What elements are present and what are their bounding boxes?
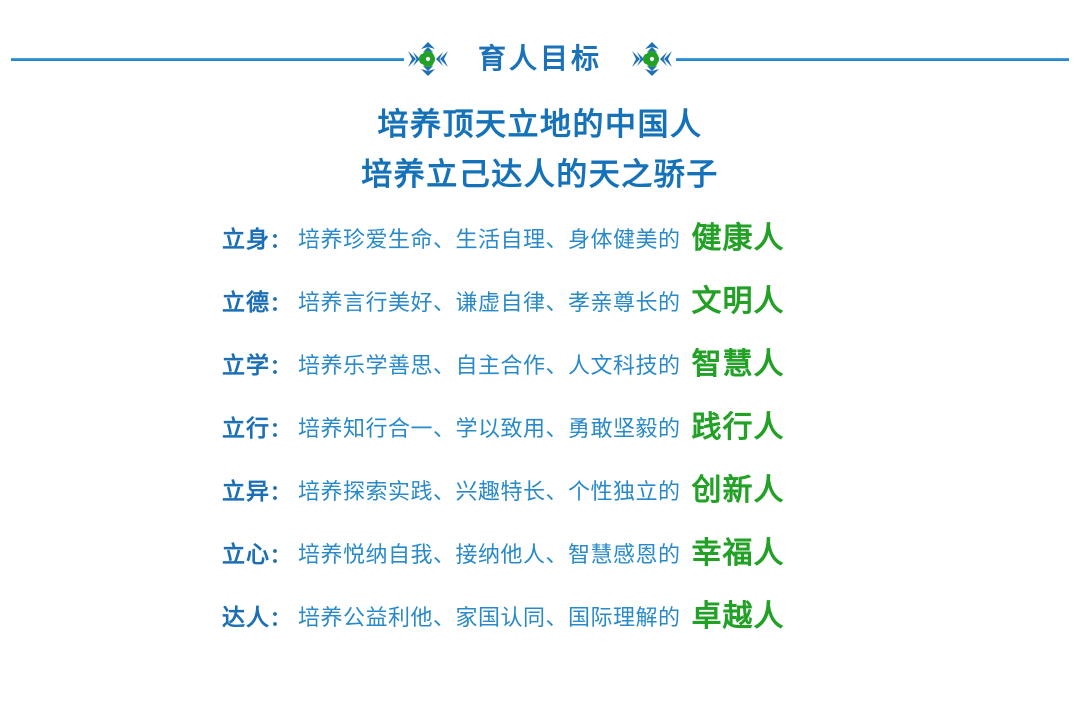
goal-term: 践行人: [681, 402, 785, 446]
goal-description: 培养乐学善思、自主合作、人文科技的: [298, 348, 681, 380]
goal-term: 创新人: [681, 465, 785, 509]
goal-colon: ：: [270, 224, 298, 253]
header-rule-right: [676, 58, 1069, 61]
goal-description: 培养言行美好、谦虚自律、孝亲尊长的: [298, 285, 681, 317]
goal-term: 健康人: [681, 213, 785, 257]
goal-colon: ：: [270, 539, 298, 568]
headline-line-1: 培养顶天立地的中国人: [0, 100, 1080, 150]
floral-ornament-icon-left: [406, 41, 450, 77]
page-title: 育人目标: [452, 45, 628, 73]
goal-term: 智慧人: [681, 339, 785, 383]
goal-label: 立心: [222, 535, 270, 569]
goal-row: 立身 ： 培养珍爱生命、生活自理、身体健美的 健康人: [0, 212, 1080, 275]
goal-row: 立学 ： 培养乐学善思、自主合作、人文科技的 智慧人: [0, 338, 1080, 401]
goal-description: 培养公益利他、家国认同、国际理解的: [298, 600, 681, 632]
goal-row: 达人 ： 培养公益利他、家国认同、国际理解的 卓越人: [0, 590, 1080, 653]
goal-row: 立心 ： 培养悦纳自我、接纳他人、智慧感恩的 幸福人: [0, 527, 1080, 590]
floral-ornament-icon-right: [630, 41, 674, 77]
goal-description: 培养珍爱生命、生活自理、身体健美的: [298, 222, 681, 254]
header-band: 育人目标: [0, 38, 1080, 80]
goal-row: 立行 ： 培养知行合一、学以致用、勇敢坚毅的 践行人: [0, 401, 1080, 464]
goal-label: 立异: [222, 472, 270, 506]
goal-colon: ：: [270, 413, 298, 442]
goal-colon: ：: [270, 476, 298, 505]
goal-colon: ：: [270, 287, 298, 316]
headline-block: 培养顶天立地的中国人 培养立己达人的天之骄子: [0, 100, 1080, 200]
goal-label: 立学: [222, 346, 270, 380]
slide-canvas: 育人目标 培养顶天立地的中国人 培养立己达人的天之骄子 立身 ： 培养珍: [0, 0, 1080, 702]
goal-term: 卓越人: [681, 591, 785, 635]
goal-label: 立身: [222, 220, 270, 254]
goal-label: 立行: [222, 409, 270, 443]
goal-term: 幸福人: [681, 528, 785, 572]
goal-description: 培养知行合一、学以致用、勇敢坚毅的: [298, 411, 681, 443]
headline-line-2: 培养立己达人的天之骄子: [0, 150, 1080, 200]
goal-term: 文明人: [681, 276, 785, 320]
goal-label: 立德: [222, 283, 270, 317]
header-rule-left: [11, 58, 404, 61]
goal-row: 立异 ： 培养探索实践、兴趣特长、个性独立的 创新人: [0, 464, 1080, 527]
goal-colon: ：: [270, 350, 298, 379]
goal-description: 培养悦纳自我、接纳他人、智慧感恩的: [298, 537, 681, 569]
goal-label: 达人: [222, 598, 270, 632]
goal-row: 立德 ： 培养言行美好、谦虚自律、孝亲尊长的 文明人: [0, 275, 1080, 338]
goal-list: 立身 ： 培养珍爱生命、生活自理、身体健美的 健康人 立德 ： 培养言行美好、谦…: [0, 212, 1080, 653]
goal-description: 培养探索实践、兴趣特长、个性独立的: [298, 474, 681, 506]
goal-colon: ：: [270, 602, 298, 631]
